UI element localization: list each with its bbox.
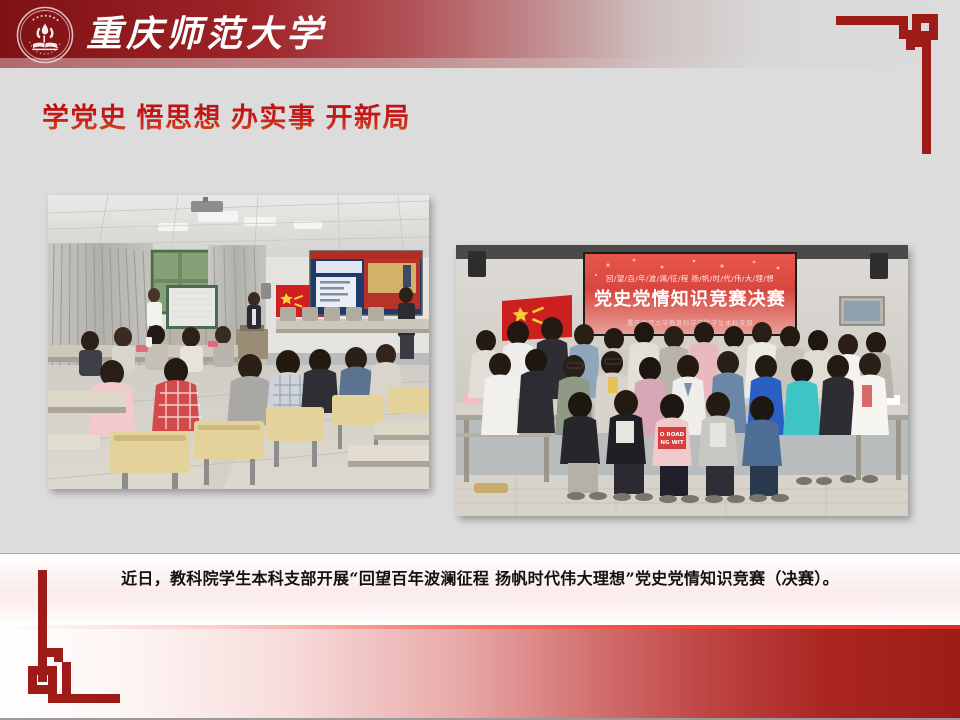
university-seal-icon: [16, 6, 74, 64]
svg-text:NG WIT: NG WIT: [660, 440, 683, 446]
page-title: 学党史 悟思想 办实事 开新局: [42, 96, 411, 135]
university-name-text: 重庆师范大学: [86, 13, 326, 55]
svg-text:O ROAD: O ROAD: [660, 432, 685, 438]
header-banner: 重庆师范大学: [0, 0, 960, 68]
screen-subtitle-text: 回/望/百/年/波/澜/征/程 扬/帆/时/代/伟/大/理/想: [606, 274, 774, 283]
chinese-corner-ornament-bottom-left: [18, 570, 126, 710]
screen-title-text: 党史党情知识竞赛决赛: [594, 288, 786, 310]
caption-text: 近日，教科院学生本科支部开展“回望百年波澜征程 扬帆时代伟大理想”党史党情知识竞…: [0, 553, 960, 601]
classroom-presentation-photo[interactable]: [48, 195, 429, 489]
chinese-corner-ornament-top-right: [834, 8, 942, 156]
group-photo[interactable]: 回/望/百/年/波/澜/征/程 扬/帆/时/代/伟/大/理/想 党史党情知识竞赛…: [456, 245, 908, 516]
slide-root: 重庆师范大学 学党史: [0, 0, 960, 720]
footer-banner: [0, 625, 960, 720]
university-name: 重庆师范大学: [86, 6, 326, 62]
footer-banner-topline: [0, 625, 960, 629]
